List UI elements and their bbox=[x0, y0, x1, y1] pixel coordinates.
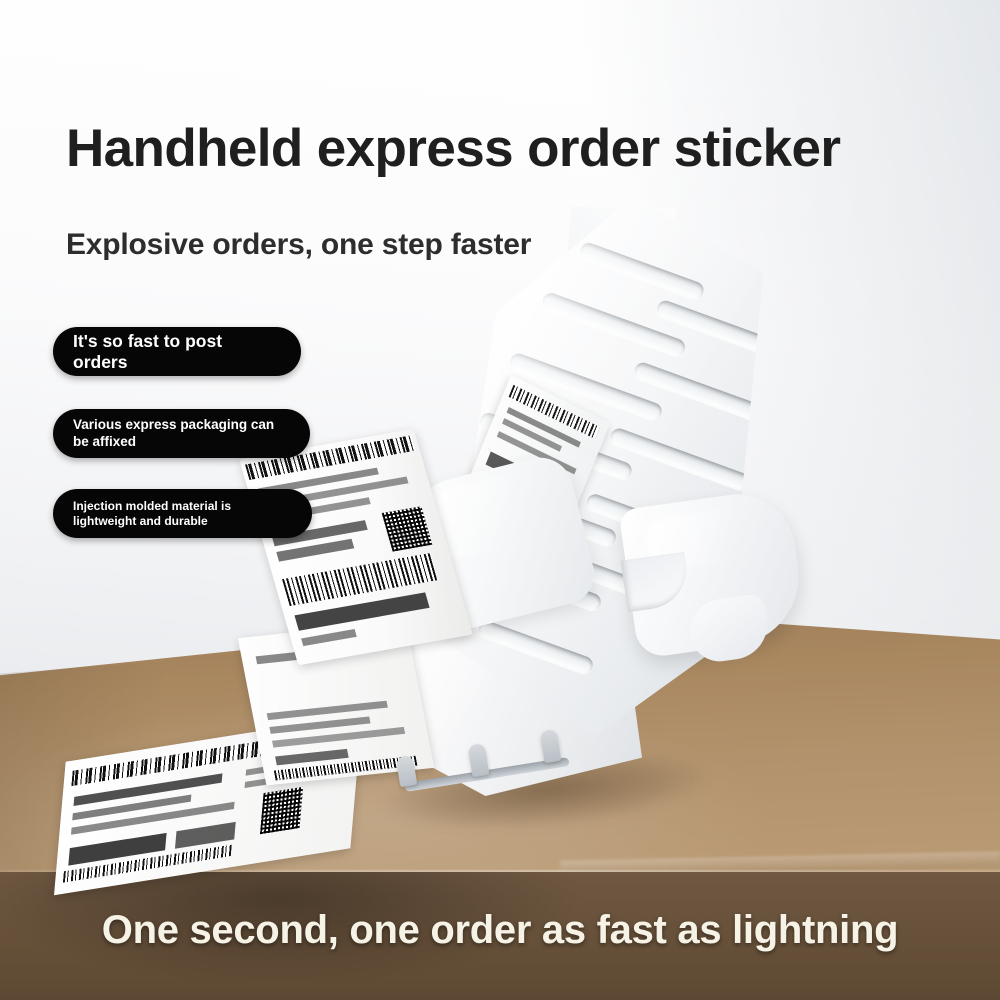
feature-pill-1-label: It's so fast to post orders bbox=[73, 331, 281, 372]
feature-pill-2-label: Various express packaging can be affixed bbox=[73, 417, 290, 450]
page-title: Handheld express order sticker bbox=[66, 118, 840, 179]
feature-pill-2: Various express packaging can be affixed bbox=[53, 409, 310, 458]
feature-pill-1: It's so fast to post orders bbox=[53, 327, 301, 376]
feature-pill-3: Injection molded material is lightweight… bbox=[53, 489, 312, 538]
footer-caption: One second, one order as fast as lightni… bbox=[0, 908, 1000, 953]
page-subtitle: Explosive orders, one step faster bbox=[66, 228, 531, 262]
feature-pill-3-label: Injection molded material is lightweight… bbox=[73, 499, 292, 528]
product-marketing-image: Handheld express order sticker Explosive… bbox=[0, 0, 1000, 1000]
